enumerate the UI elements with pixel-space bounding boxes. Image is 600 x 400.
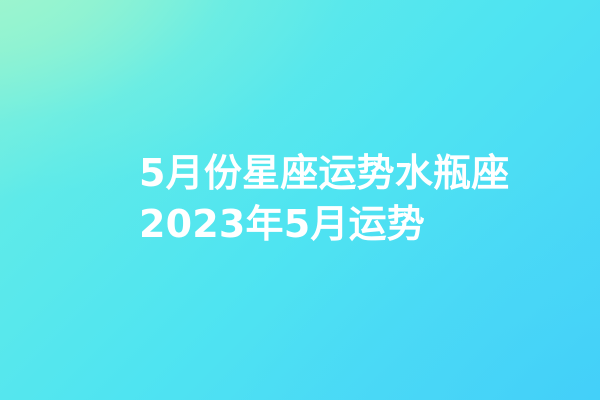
banner-title-line-1: 5月份星座运势水瓶座 (139, 148, 509, 199)
banner-title-line-2: 2023年5月运势 (139, 199, 425, 250)
banner-title-block: 5月份星座运势水瓶座 2023年5月运势 (139, 148, 509, 250)
banner-image: 5月份星座运势水瓶座 2023年5月运势 (0, 0, 600, 400)
